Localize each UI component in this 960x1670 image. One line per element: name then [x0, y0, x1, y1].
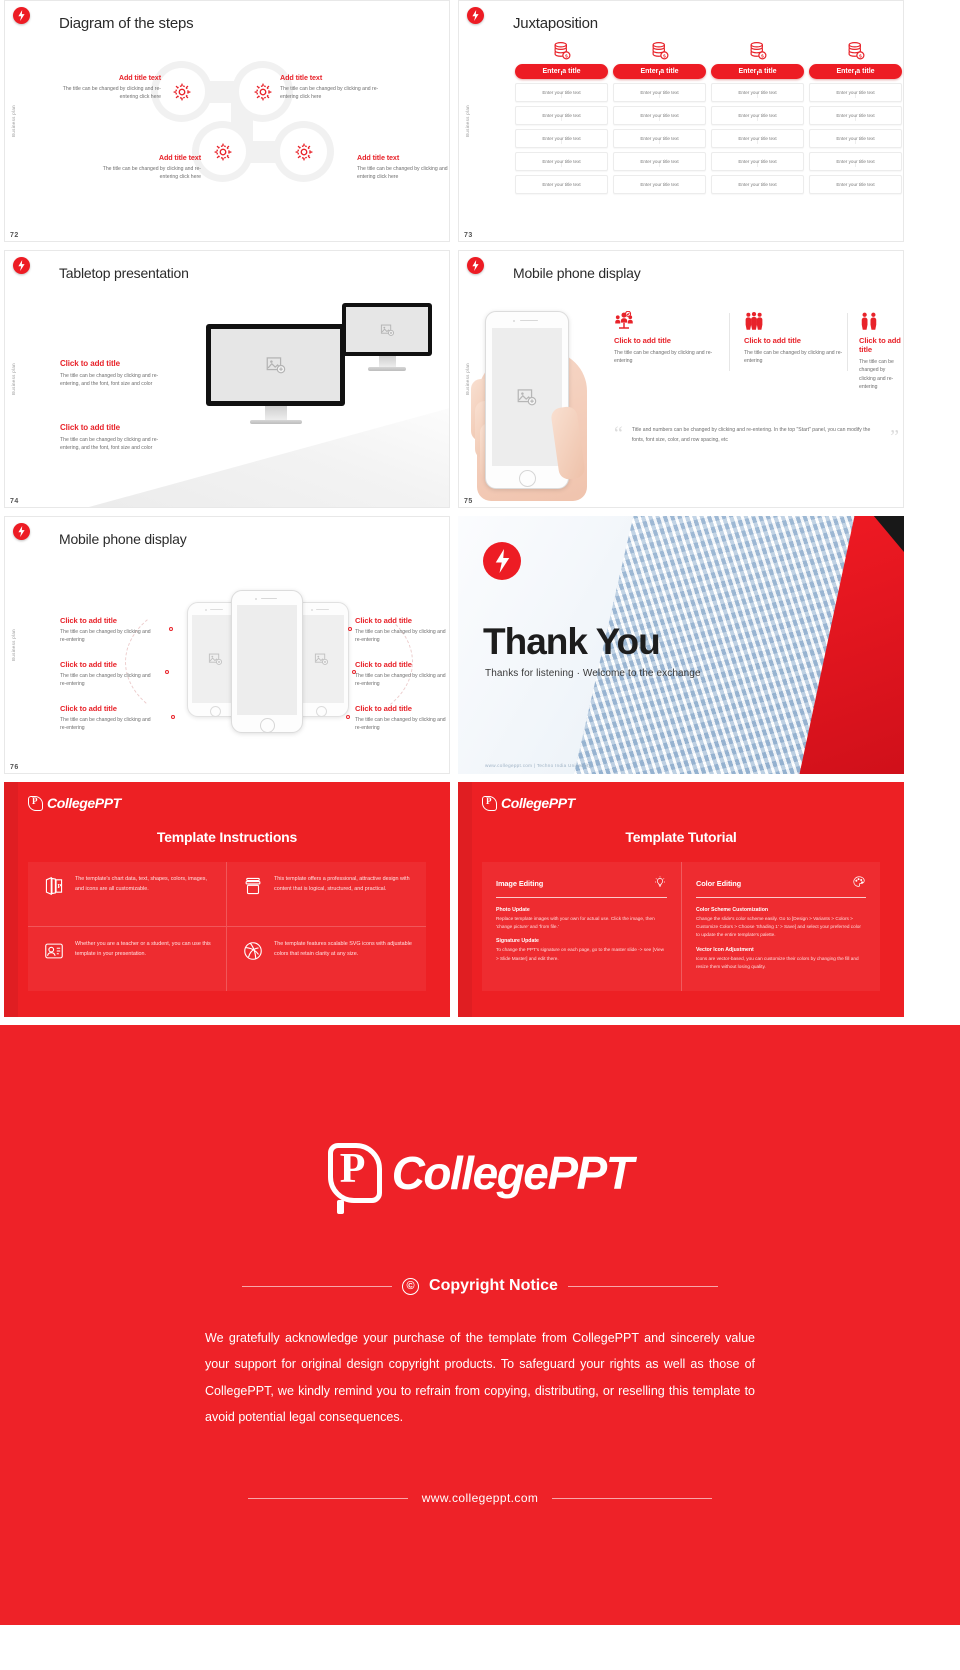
people-group-icon	[744, 309, 844, 331]
instruction-text: Whether you are a teacher or a student, …	[75, 939, 214, 959]
presentation-thumbnail-sheet: Business plan Diagram of the steps	[0, 0, 960, 1625]
tutorial-column-header: Image Editing	[496, 875, 667, 891]
connector-stem	[855, 94, 856, 98]
collegeppt-wordmark: CollegePPT	[392, 1146, 633, 1200]
connector-stem	[757, 140, 758, 144]
instruction-text: This template offers a professional, att…	[274, 874, 414, 894]
tutorial-text: Icons are vector-based, you can customiz…	[696, 955, 866, 971]
feature-column-1: Click to add title The title can be chan…	[614, 309, 714, 366]
connector-stem	[757, 117, 758, 121]
quote-text: Title and numbers can be changed by clic…	[632, 426, 881, 445]
tutorial-column-header: Color Editing	[696, 875, 866, 891]
quote-block: “ Title and numbers can be changed by cl…	[614, 426, 899, 445]
feature-body: The title can be changed by clicking and…	[614, 349, 714, 366]
instruction-card: This template offers a professional, att…	[227, 862, 426, 927]
team-check-icon	[614, 309, 714, 331]
item-body: The title can be changed by clicking and…	[355, 716, 450, 733]
step-text-1: Add title text The title can be changed …	[57, 73, 161, 102]
svg-text:$: $	[859, 54, 862, 59]
column-divider	[847, 313, 848, 371]
connector-stem	[855, 117, 856, 121]
phone-home-button[interactable]	[260, 718, 275, 733]
panel-template-instructions[interactable]: CollegePPT Template Instructions P The t…	[4, 782, 450, 1017]
item-body: The title can be changed by clicking and…	[60, 628, 155, 645]
slide-side-label: Business plan	[11, 363, 16, 395]
arc-dot	[346, 715, 350, 719]
divider	[568, 1286, 718, 1287]
gear-icon	[253, 82, 273, 102]
slide-side-label: Business plan	[11, 105, 16, 137]
feature-body: The title can be changed by clicking and…	[744, 349, 844, 366]
svg-text:$: $	[663, 54, 666, 59]
thank-you-title: Thank You	[483, 621, 660, 663]
table-cell[interactable]: Enter your title text	[809, 129, 902, 148]
phone-device[interactable]	[485, 311, 569, 489]
step-heading: Add title text	[57, 73, 161, 82]
instruction-card: Whether you are a teacher or a student, …	[28, 927, 227, 992]
table-cell[interactable]: Enter your title text	[711, 83, 804, 102]
tutorial-subheading: Vector Icon Adjustment	[696, 947, 866, 953]
tutorial-subheading: Photo Update	[496, 907, 667, 913]
trio-right-item-1: Click to add title The title can be chan…	[355, 616, 450, 645]
item-body: The title can be changed by clicking and…	[60, 672, 155, 689]
slide-mobile-phone-display-trio[interactable]: Business plan Mobile phone display	[4, 516, 450, 774]
monitor-primary[interactable]	[206, 324, 345, 424]
table-cell[interactable]: Enter your title text	[613, 106, 706, 125]
slide-number: 74	[10, 498, 19, 505]
column-divider	[729, 313, 730, 371]
connector-stem	[659, 117, 660, 121]
juxtaposition-column: $Enter a titleEnter your title textEnter…	[809, 37, 902, 194]
logo-part-1: College	[392, 1147, 548, 1199]
table-cell[interactable]: Enter your title text	[711, 175, 804, 194]
lightbulb-icon	[653, 875, 667, 891]
table-cell[interactable]: Enter your title text	[613, 152, 706, 171]
palette-icon	[852, 875, 866, 891]
coin-stack-icon: $	[552, 41, 572, 61]
item-heading: Click to add title	[60, 423, 178, 432]
item-heading: Click to add title	[60, 660, 155, 669]
slide-side-label: Business plan	[465, 105, 470, 137]
juxtaposition-column: $Enter a titleEnter your title textEnter…	[515, 37, 608, 194]
collegeppt-wordmark: CollegePPT	[501, 795, 575, 811]
step-node-2[interactable]	[239, 68, 286, 115]
slide-tabletop-presentation[interactable]: Business plan Tabletop presentation	[4, 250, 450, 508]
panel-title: Template Instructions	[4, 829, 450, 845]
feature-heading: Click to add title	[744, 336, 844, 345]
feature-column-2: Click to add title The title can be chan…	[744, 309, 844, 366]
step-heading: Add title text	[280, 73, 384, 82]
step-node-3[interactable]	[199, 128, 246, 175]
instruction-card: P The template's chart data, text, shape…	[28, 862, 227, 927]
collegeppt-mark-icon: P	[328, 1143, 382, 1203]
divider	[248, 1498, 408, 1499]
arc-dot	[169, 627, 173, 631]
tabletop-text-2: Click to add title The title can be chan…	[60, 423, 178, 453]
slide-number: 73	[464, 232, 473, 239]
tutorial-subheading: Color Scheme Customization	[696, 907, 866, 913]
arc-dot	[348, 627, 352, 631]
table-cell[interactable]: Enter your title text	[613, 129, 706, 148]
connector-stem	[659, 163, 660, 167]
brand-logo-badge	[483, 542, 521, 580]
thank-you-footer: www.collegeppt.com | Techno India Univer…	[485, 763, 591, 768]
bolt-logo-icon	[467, 7, 484, 24]
tabletop-text-1: Click to add title The title can be chan…	[60, 359, 178, 389]
bolt-logo-icon	[493, 549, 512, 573]
image-placeholder-icon	[516, 387, 538, 407]
connector-stem	[757, 94, 758, 98]
step-body: The title can be changed by clicking and…	[57, 85, 161, 102]
item-heading: Click to add title	[355, 704, 450, 713]
quote-open-icon: “	[614, 426, 623, 445]
step-heading: Add title text	[97, 153, 201, 162]
tutorial-columns: Image Editing Photo Update Replace templ…	[482, 862, 880, 991]
dribbble-icon	[241, 939, 265, 963]
coin-stack-icon: $	[809, 37, 902, 61]
phone-home-button[interactable]	[519, 470, 536, 487]
hand-holding-phone	[467, 289, 602, 501]
trio-left-item-2: Click to add title The title can be chan…	[60, 660, 155, 689]
table-cell[interactable]: Enter your title text	[711, 129, 804, 148]
connector-stem	[855, 71, 856, 75]
page-title: Mobile phone display	[59, 531, 187, 547]
instruction-text: The template's chart data, text, shapes,…	[75, 874, 214, 894]
slide-row-2: Business plan Tabletop presentation	[0, 250, 960, 508]
item-body: The title can be changed by clicking and…	[60, 436, 178, 453]
logo-part-1: College	[501, 795, 549, 811]
logo-part-2: PPT	[547, 1147, 632, 1199]
connector-stem	[757, 163, 758, 167]
tutorial-text: Change the slide's color scheme easily. …	[696, 915, 866, 940]
divider	[696, 897, 866, 898]
juxtaposition-column: $Enter a titleEnter your title textEnter…	[711, 37, 804, 194]
page-title: Diagram of the steps	[59, 15, 193, 32]
image-placeholder-icon	[265, 355, 287, 375]
connector-stem	[659, 94, 660, 98]
step-body: The title can be changed by clicking and…	[357, 165, 450, 182]
table-cell[interactable]: Enter your title text	[809, 83, 902, 102]
instruction-cards: P The template's chart data, text, shape…	[28, 862, 426, 991]
item-body: The title can be changed by clicking and…	[355, 628, 450, 645]
ppt-pages-icon: P	[42, 874, 66, 898]
step-body: The title can be changed by clicking and…	[97, 165, 201, 182]
item-heading: Click to add title	[60, 704, 155, 713]
instruction-card: The template features scalable SVG icons…	[227, 927, 426, 992]
arc-dot	[171, 715, 175, 719]
feature-heading: Click to add title	[614, 336, 714, 345]
table-cell[interactable]: Enter your title text	[515, 83, 608, 102]
coin-stack-icon: $	[515, 37, 608, 61]
panel-template-tutorial[interactable]: CollegePPT Template Tutorial Image Editi…	[458, 782, 904, 1017]
slide-row-3: Business plan Mobile phone display	[0, 516, 960, 774]
trio-left-item-3: Click to add title The title can be chan…	[60, 704, 155, 733]
step-body: The title can be changed by clicking and…	[280, 85, 384, 102]
phone-center[interactable]	[231, 590, 303, 733]
copyright-symbol-icon: ©	[402, 1278, 419, 1295]
monitor-secondary[interactable]	[342, 303, 432, 371]
divider	[242, 1286, 392, 1287]
connector-stem	[561, 94, 562, 98]
divider	[552, 1498, 712, 1499]
connector-stem	[659, 140, 660, 144]
slide-diagram-of-the-steps[interactable]: Business plan Diagram of the steps	[4, 0, 450, 242]
table-cell[interactable]: Enter your title text	[613, 83, 706, 102]
slide-number: 76	[10, 764, 19, 771]
quote-close-icon: ”	[890, 429, 899, 445]
table-cell[interactable]: Enter your title text	[515, 152, 608, 171]
item-heading: Click to add title	[60, 616, 155, 625]
step-node-1[interactable]	[158, 68, 205, 115]
gear-icon	[172, 82, 192, 102]
tutorial-subheading: Signature Update	[496, 938, 667, 944]
coin-stack-icon: $	[748, 41, 768, 61]
tutorial-column-color-editing: Color Editing Color Scheme Customization…	[681, 862, 880, 991]
table-cell[interactable]: Enter your title text	[809, 175, 902, 194]
tutorial-heading: Color Editing	[696, 879, 741, 888]
logo-part-2: PPT	[95, 795, 121, 811]
step-text-3: Add title text The title can be changed …	[97, 153, 201, 182]
website-url[interactable]: www.collegeppt.com	[422, 1491, 539, 1505]
id-card-icon	[42, 939, 66, 963]
tutorial-text: Replace template images with your own fo…	[496, 915, 667, 931]
thank-you-background: Thank You Thanks for listening · Welcome…	[458, 516, 904, 774]
collegeppt-logo-large: P CollegePPT	[0, 1143, 960, 1203]
people-pair-icon	[859, 309, 903, 331]
slide-copyright-notice[interactable]: P CollegePPT © Copyright Notice We grate…	[0, 1025, 960, 1625]
coin-stack-icon: $	[846, 41, 866, 61]
item-body: The title can be changed by clicking and…	[60, 372, 178, 389]
step-text-2: Add title text The title can be changed …	[280, 73, 384, 102]
connector-stem	[659, 71, 660, 75]
coin-stack-icon: $	[613, 37, 706, 61]
connector-stem	[561, 117, 562, 121]
phone-speaker	[261, 598, 277, 599]
juxtaposition-column: $Enter a titleEnter your title textEnter…	[613, 37, 706, 194]
bolt-logo-icon	[13, 523, 30, 540]
item-heading: Click to add title	[355, 660, 450, 669]
feature-body: The title can be changed by clicking and…	[859, 358, 903, 391]
table-cell[interactable]: Enter your title text	[809, 106, 902, 125]
connector-stem	[855, 163, 856, 167]
divider	[496, 897, 667, 898]
step-heading: Add title text	[357, 153, 450, 162]
page-title: Juxtaposition	[513, 15, 598, 32]
phone-speaker	[520, 320, 538, 321]
slide-thank-you[interactable]: Thank You Thanks for listening · Welcome…	[458, 516, 904, 774]
logo-part-2: PPT	[549, 795, 575, 811]
instruction-text: The template features scalable SVG icons…	[274, 939, 414, 959]
phone-screen	[237, 605, 297, 715]
feature-column-3: Click to add title The title can be chan…	[859, 309, 903, 391]
bolt-logo-icon	[13, 257, 30, 274]
svg-text:$: $	[565, 54, 568, 59]
phone-screen	[492, 328, 562, 466]
slide-row-4: CollegePPT Template Instructions P The t…	[0, 782, 960, 1017]
copyright-body-text: We gratefully acknowledge your purchase …	[205, 1325, 755, 1430]
arc-dot	[165, 670, 169, 674]
trio-right-item-2: Click to add title The title can be chan…	[355, 660, 450, 689]
item-body: The title can be changed by clicking and…	[60, 716, 155, 733]
table-cell[interactable]: Enter your title text	[809, 152, 902, 171]
item-body: The title can be changed by clicking and…	[355, 672, 450, 689]
copyright-url-row: www.collegeppt.com	[0, 1491, 960, 1505]
item-heading: Click to add title	[60, 359, 178, 368]
slide-row-1: Business plan Diagram of the steps	[0, 0, 960, 242]
connector-stem	[561, 71, 562, 75]
trio-right-item-3: Click to add title The title can be chan…	[355, 704, 450, 733]
table-cell[interactable]: Enter your title text	[515, 129, 608, 148]
collegeppt-mark-icon	[28, 796, 43, 811]
connector-stem	[561, 140, 562, 144]
connector-stem	[855, 140, 856, 144]
table-cell[interactable]: Enter your title text	[613, 175, 706, 194]
trio-left-item-1: Click to add title The title can be chan…	[60, 616, 155, 645]
collegeppt-mark-icon	[482, 796, 497, 811]
table-cell[interactable]: Enter your title text	[711, 152, 804, 171]
thank-you-subtitle: Thanks for listening · Welcome to the ex…	[485, 668, 701, 679]
table-cell[interactable]: Enter your title text	[515, 106, 608, 125]
logo-part-1: College	[47, 795, 95, 811]
svg-text:$: $	[761, 54, 764, 59]
slide-number: 75	[464, 498, 473, 505]
table-cell[interactable]: Enter your title text	[515, 175, 608, 194]
copyright-heading-row: © Copyright Notice	[0, 1277, 960, 1295]
slide-number: 72	[10, 232, 19, 239]
collegeppt-wordmark: CollegePPT	[47, 795, 121, 811]
table-cell[interactable]: Enter your title text	[711, 106, 804, 125]
feature-heading: Click to add title	[859, 336, 903, 354]
tutorial-column-image-editing: Image Editing Photo Update Replace templ…	[482, 862, 681, 991]
panel-title: Template Tutorial	[458, 829, 904, 845]
slide-juxtaposition[interactable]: Business plan Juxtaposition $Enter a tit…	[458, 0, 904, 242]
connector-stem	[757, 71, 758, 75]
coin-stack-icon: $	[711, 37, 804, 61]
bolt-logo-icon	[467, 257, 484, 274]
gear-icon	[294, 142, 314, 162]
page-title: Tabletop presentation	[59, 265, 189, 281]
page-title: Mobile phone display	[513, 265, 641, 281]
slide-side-label: Business plan	[11, 629, 16, 661]
phone-camera-dot	[255, 598, 257, 600]
step-text-4: Add title text The title can be changed …	[357, 153, 450, 182]
collegeppt-logo: CollegePPT	[482, 795, 575, 811]
gear-icon	[213, 142, 233, 162]
box-stack-icon	[241, 874, 265, 898]
collegeppt-logo: CollegePPT	[28, 795, 121, 811]
phone-camera-dot	[513, 320, 515, 322]
tutorial-text: To change the PPT's signature on each pa…	[496, 946, 667, 962]
svg-text:P: P	[57, 883, 61, 890]
slide-mobile-phone-display-hand[interactable]: Business plan Mobile phone display	[458, 250, 904, 508]
step-node-4[interactable]	[280, 128, 327, 175]
copyright-heading: Copyright Notice	[429, 1277, 558, 1295]
bolt-logo-icon	[13, 7, 30, 24]
connector-stem	[561, 163, 562, 167]
coin-stack-icon: $	[650, 41, 670, 61]
tutorial-heading: Image Editing	[496, 879, 543, 888]
image-placeholder-icon	[380, 323, 395, 337]
item-heading: Click to add title	[355, 616, 450, 625]
